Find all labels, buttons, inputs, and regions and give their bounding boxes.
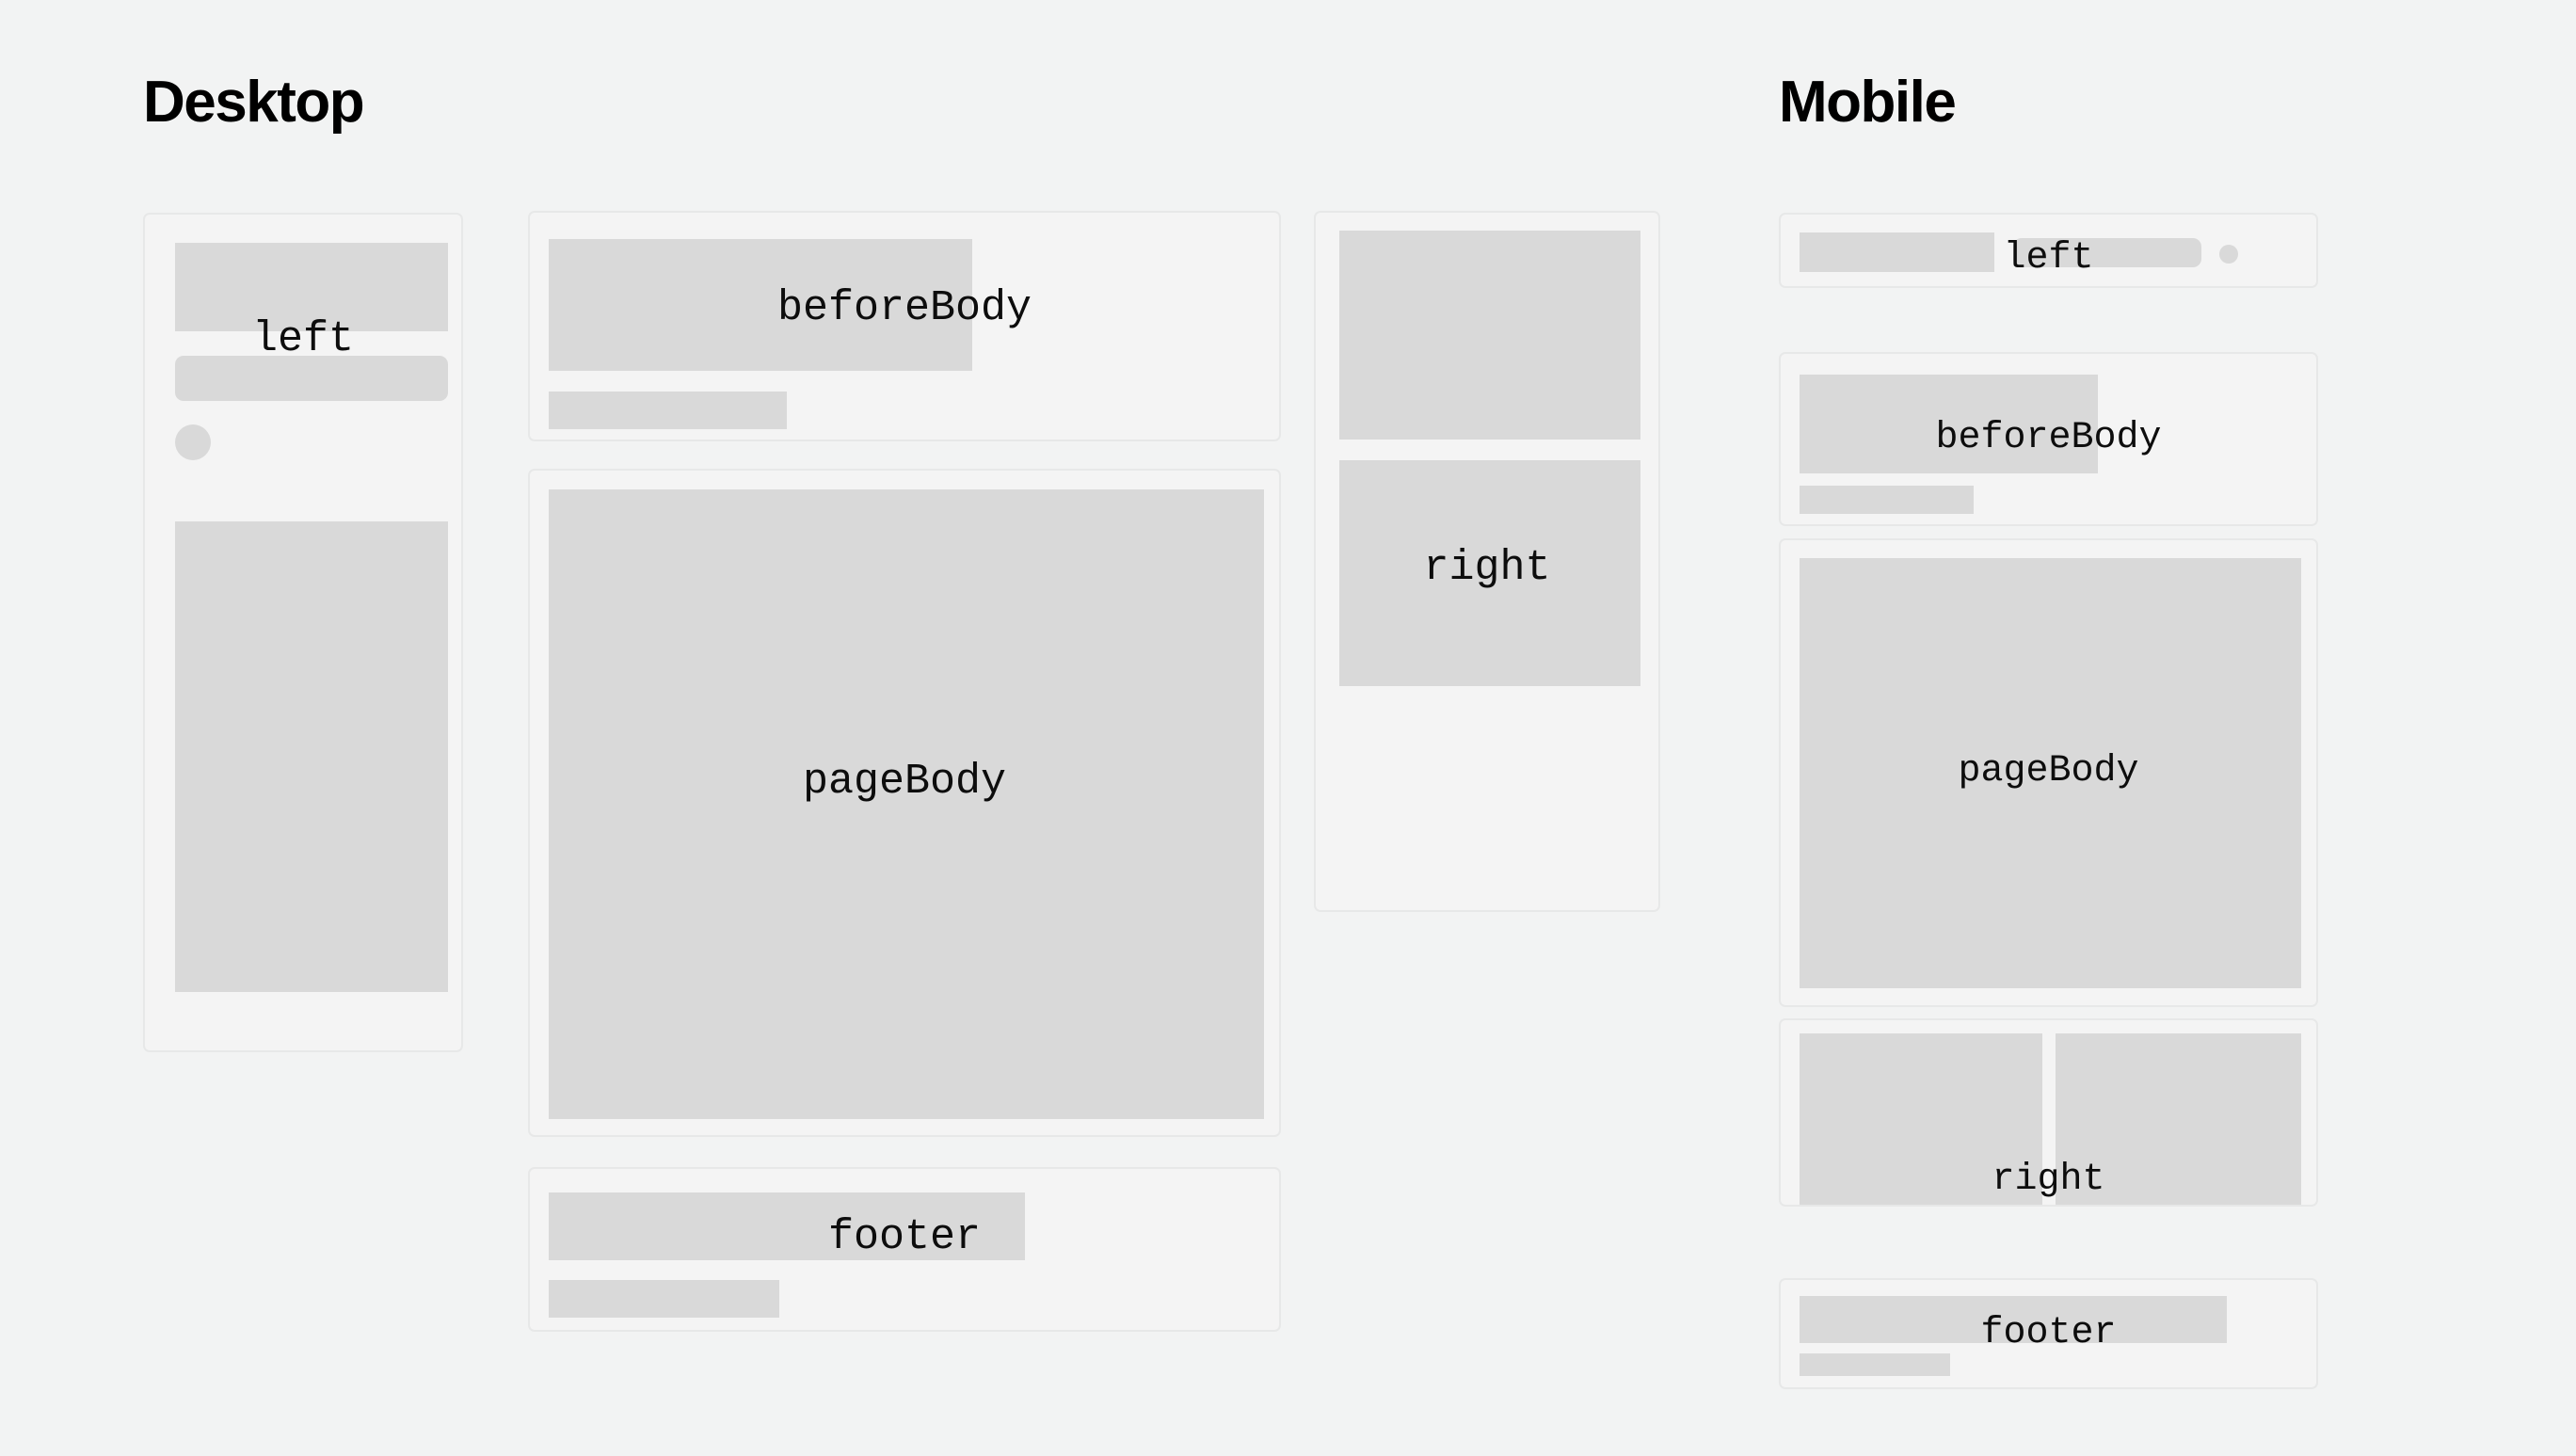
placeholder-block-right-column [2056, 1033, 2301, 1207]
mobile-before-body-panel[interactable] [1779, 352, 2318, 526]
placeholder-block-large [549, 239, 972, 371]
placeholder-circle-avatar [175, 424, 211, 460]
placeholder-block-left-column [1800, 1033, 2042, 1207]
placeholder-block-main [549, 489, 1264, 1119]
desktop-page-body-panel[interactable] [528, 469, 1281, 1137]
desktop-footer-panel[interactable] [528, 1167, 1281, 1332]
placeholder-block-large [549, 1192, 1025, 1260]
mobile-left-panel[interactable] [1779, 213, 2318, 288]
mobile-right-panel[interactable] [1779, 1018, 2318, 1207]
desktop-column-heading: Desktop [143, 73, 363, 132]
mobile-footer-panel[interactable] [1779, 1278, 2318, 1389]
placeholder-block-small [1800, 486, 1974, 514]
placeholder-block-large [1800, 375, 2098, 473]
placeholder-block-top [1339, 231, 1640, 440]
placeholder-block-header [1800, 232, 1994, 272]
mobile-column-heading: Mobile [1779, 73, 1955, 132]
placeholder-block-bar [2013, 238, 2201, 267]
placeholder-block-bar [175, 356, 448, 401]
desktop-right-panel[interactable] [1314, 211, 1660, 912]
wireframe-canvas: Desktop Mobile left beforeBody pageBody … [0, 0, 2576, 1456]
placeholder-block-small [1800, 1353, 1950, 1376]
placeholder-block-body [175, 521, 448, 992]
placeholder-block-large [1800, 1296, 2227, 1343]
placeholder-block-bottom [1339, 460, 1640, 686]
desktop-left-panel[interactable] [143, 213, 463, 1052]
placeholder-block-small [549, 392, 787, 429]
placeholder-block-main [1800, 558, 2301, 988]
desktop-before-body-panel[interactable] [528, 211, 1281, 441]
placeholder-block-small [549, 1280, 779, 1318]
mobile-page-body-panel[interactable] [1779, 538, 2318, 1007]
placeholder-block-header [175, 243, 448, 331]
placeholder-circle-avatar [2219, 245, 2238, 264]
